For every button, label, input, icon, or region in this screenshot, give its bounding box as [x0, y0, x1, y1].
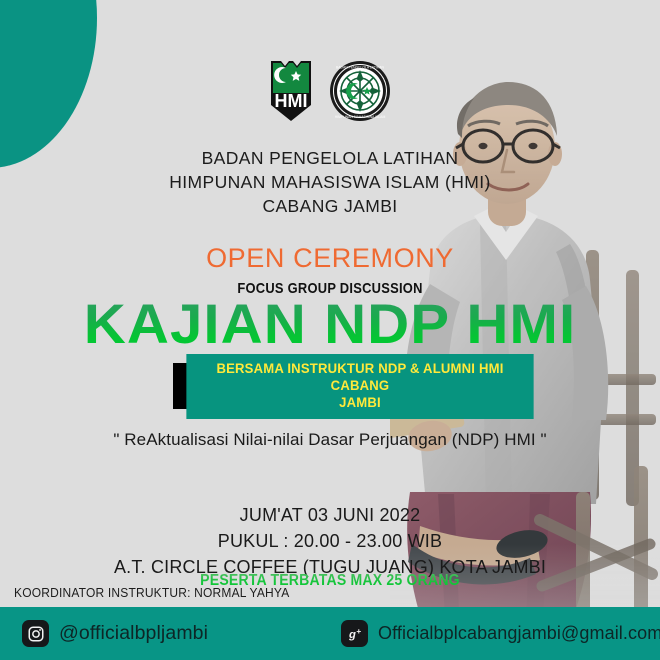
svg-text:HMI: HMI — [275, 91, 308, 111]
event-date: JUM'AT 03 JUNI 2022 — [0, 502, 660, 528]
contact-email: Officialbplcabangjambi@gmail.com — [378, 623, 660, 644]
bpl-hmi-circular-logo: BADAN PENGELOLA LATIHAN HIMPUNAN MAHASIS… — [329, 60, 391, 122]
banner-line-2: JAMBI — [196, 394, 524, 411]
instagram-contact[interactable]: @officialbpljambi — [22, 620, 208, 647]
org-line-2: HIMPUNAN MAHASISWA ISLAM (HMI) — [0, 170, 660, 194]
svg-text:HIMPUNAN MAHASISWA ISLAM: HIMPUNAN MAHASISWA ISLAM — [335, 115, 386, 119]
theme-quote: " ReAktualisasi Nilai-nilai Dasar Perjua… — [0, 430, 660, 450]
svg-text:g: g — [347, 629, 355, 641]
event-kicker: OPEN CEREMONY — [0, 243, 660, 274]
logo-row: HMI — [0, 59, 660, 123]
coordinator-note: KOORDINATOR INSTRUKTUR: NORMAL YAHYA — [14, 586, 289, 600]
instagram-icon — [22, 620, 49, 647]
organization-heading: BADAN PENGELOLA LATIHAN HIMPUNAN MAHASIS… — [0, 146, 660, 218]
contact-footer: @officialbpljambi g + Officialbplcabangj… — [0, 607, 660, 660]
event-details: JUM'AT 03 JUNI 2022 PUKUL : 20.00 - 23.0… — [0, 502, 660, 580]
org-line-1: BADAN PENGELOLA LATIHAN — [0, 146, 660, 170]
speakers-banner: BERSAMA INSTRUKTUR NDP & ALUMNI HMI CABA… — [181, 354, 539, 419]
event-title: KAJIAN NDP HMI — [0, 296, 660, 352]
banner-line-1: BERSAMA INSTRUKTUR NDP & ALUMNI HMI CABA… — [196, 360, 524, 394]
google-plus-icon: g + — [341, 620, 368, 647]
event-time: PUKUL : 20.00 - 23.00 WIB — [0, 528, 660, 554]
svg-text:+: + — [356, 627, 361, 636]
instagram-handle: @officialbpljambi — [59, 622, 208, 645]
org-line-3: CABANG JAMBI — [0, 194, 660, 218]
poster-canvas: HMI — [0, 0, 660, 660]
svg-text:BADAN PENGELOLA LATIHAN: BADAN PENGELOLA LATIHAN — [336, 66, 385, 70]
hmi-shield-logo: HMI — [269, 59, 313, 123]
googleplus-contact[interactable]: g + Officialbplcabangjambi@gmail.com — [341, 620, 660, 647]
